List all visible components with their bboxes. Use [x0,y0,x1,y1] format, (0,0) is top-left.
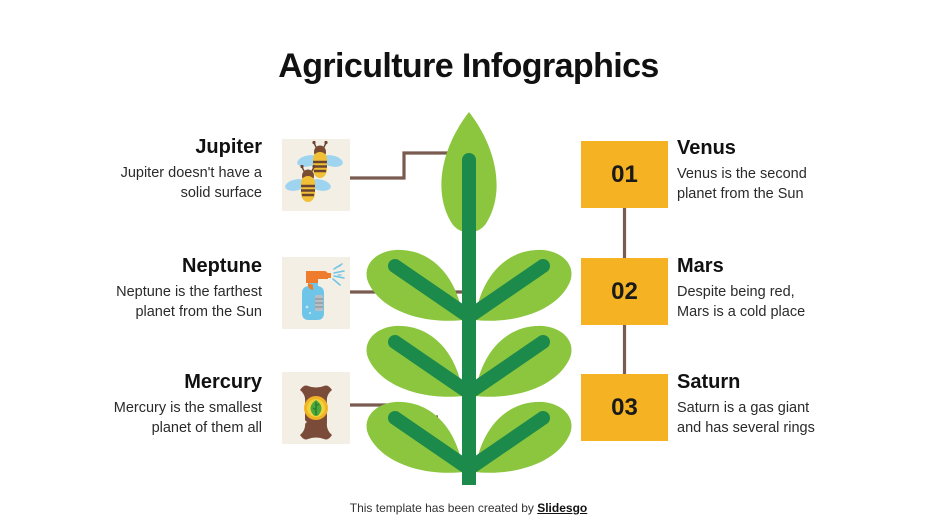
left-entry-neptune: Neptune Neptune is the farthest planet f… [62,255,262,322]
right-entry-venus: Venus Venus is the second planet from th… [677,137,917,204]
seed-sack-icon [282,372,350,444]
number-box-venus: 01 [581,141,668,208]
right-entry-description: Despite being red, Mars is a cold place [677,283,917,322]
left-entry-description: Jupiter doesn't have a solid surface [62,164,262,203]
number-box-mars: 02 [581,258,668,325]
left-entry-heading: Jupiter [62,136,262,158]
right-entry-heading: Venus [677,137,917,159]
icon-tile-neptune [282,257,350,329]
icon-tile-jupiter [282,139,350,211]
left-entry-heading: Neptune [62,255,262,277]
left-entry-jupiter: Jupiter Jupiter doesn't have a solid sur… [62,136,262,203]
icon-tile-mercury [282,372,350,444]
right-entry-saturn: Saturn Saturn is a gas giant and has sev… [677,371,917,438]
footer-text: This template has been created by [350,501,537,515]
footer-credit: This template has been created by Slides… [0,501,937,515]
slidesgo-link[interactable]: Slidesgo [537,501,587,515]
left-entry-heading: Mercury [62,371,262,393]
number-box-saturn: 03 [581,374,668,441]
left-entry-description: Mercury is the smallest planet of them a… [62,399,262,438]
left-entry-description: Neptune is the farthest planet from the … [62,283,262,322]
spray-bottle-icon [282,257,350,329]
plant-stem [462,188,476,485]
left-entry-mercury: Mercury Mercury is the smallest planet o… [62,371,262,438]
right-entry-description: Venus is the second planet from the Sun [677,165,917,204]
right-entry-mars: Mars Despite being red, Mars is a cold p… [677,255,917,322]
right-entry-description: Saturn is a gas giant and has several ri… [677,399,917,438]
right-entry-heading: Saturn [677,371,917,393]
bees-icon [282,139,350,211]
right-entry-heading: Mars [677,255,917,277]
plant-illustration [355,100,583,492]
page-title: Agriculture Infographics [0,47,937,86]
